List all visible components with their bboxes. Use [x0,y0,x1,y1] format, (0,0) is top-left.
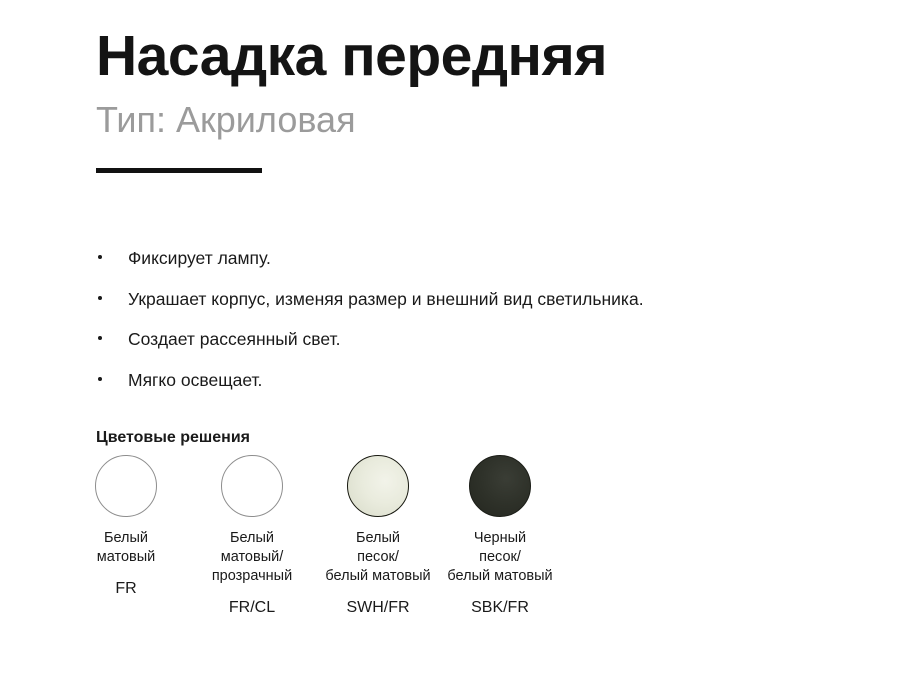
list-item: Фиксирует лампу. [96,250,856,268]
bullet-icon [98,377,102,381]
color-circle-icon [95,455,157,517]
feature-text: Создает рассеянный свет. [128,329,340,349]
swatch-code: FR/CL [190,600,314,616]
color-swatch-fr-cl[interactable]: Белый матовый/ прозрачный FR/CL [190,446,314,616]
product-type-subtitle: Тип: Акриловая [96,100,856,140]
bullet-icon [98,336,102,340]
feature-text: Мягко освещает. [128,370,262,390]
color-swatch-row: Белый матовый FR Белый матовый/ прозрачн… [96,446,856,666]
swatch-label: Белый матовый [64,529,188,567]
swatch-code: SBK/FR [438,600,562,616]
list-item: Мягко освещает. [96,372,856,390]
color-options-heading: Цветовые решения [96,430,856,446]
color-circle-icon [221,455,283,517]
swatch-dot-wrapper [316,446,440,526]
swatch-label: Черный песок/ белый матовый [438,529,562,586]
header-divider [96,168,262,173]
list-item: Украшает корпус, изменяя размер и внешни… [96,291,856,309]
swatch-label: Белый песок/ белый матовый [316,529,440,586]
bullet-icon [98,255,102,259]
list-item: Создает рассеянный свет. [96,331,856,349]
swatch-code: SWH/FR [316,600,440,616]
color-swatch-sbk-fr[interactable]: Черный песок/ белый матовый SBK/FR [438,446,562,616]
product-spec-page: Насадка передняя Тип: Акриловая Фиксируе… [0,0,900,700]
color-options-section: Цветовые решения Белый матовый FR Белый … [96,430,856,666]
feature-text: Фиксирует лампу. [128,248,271,268]
swatch-dot-wrapper [438,446,562,526]
swatch-dot-wrapper [64,446,188,526]
bullet-icon [98,296,102,300]
swatch-dot-wrapper [190,446,314,526]
swatch-label: Белый матовый/ прозрачный [190,529,314,586]
page-title: Насадка передняя [96,26,856,86]
color-circle-icon [347,455,409,517]
swatch-code: FR [64,581,188,597]
header: Насадка передняя Тип: Акриловая [96,26,856,173]
color-swatch-swh-fr[interactable]: Белый песок/ белый матовый SWH/FR [316,446,440,616]
feature-list: Фиксирует лампу. Украшает корпус, изменя… [96,250,856,412]
color-circle-icon [469,455,531,517]
feature-text: Украшает корпус, изменяя размер и внешни… [128,289,644,309]
color-swatch-fr[interactable]: Белый матовый FR [64,446,188,597]
